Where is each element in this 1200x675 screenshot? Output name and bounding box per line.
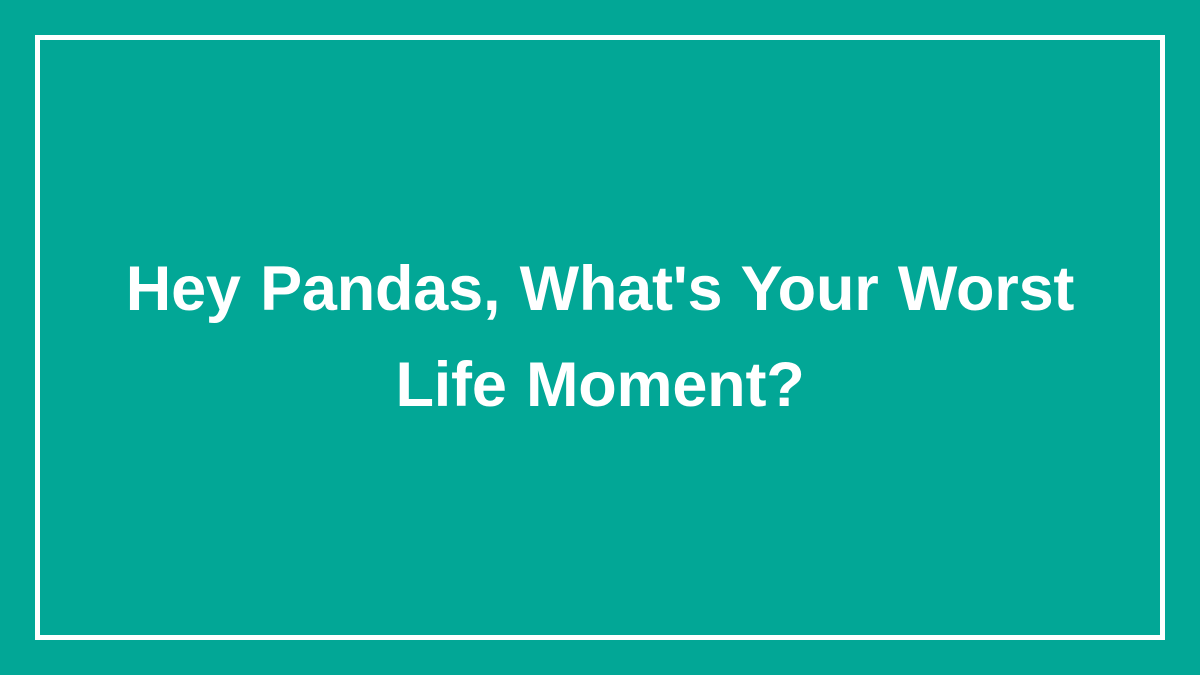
title-container: Hey Pandas, What's Your Worst Life Momen… [35, 35, 1165, 640]
title-card: Hey Pandas, What's Your Worst Life Momen… [0, 0, 1200, 675]
page-title: Hey Pandas, What's Your Worst Life Momen… [95, 241, 1105, 433]
